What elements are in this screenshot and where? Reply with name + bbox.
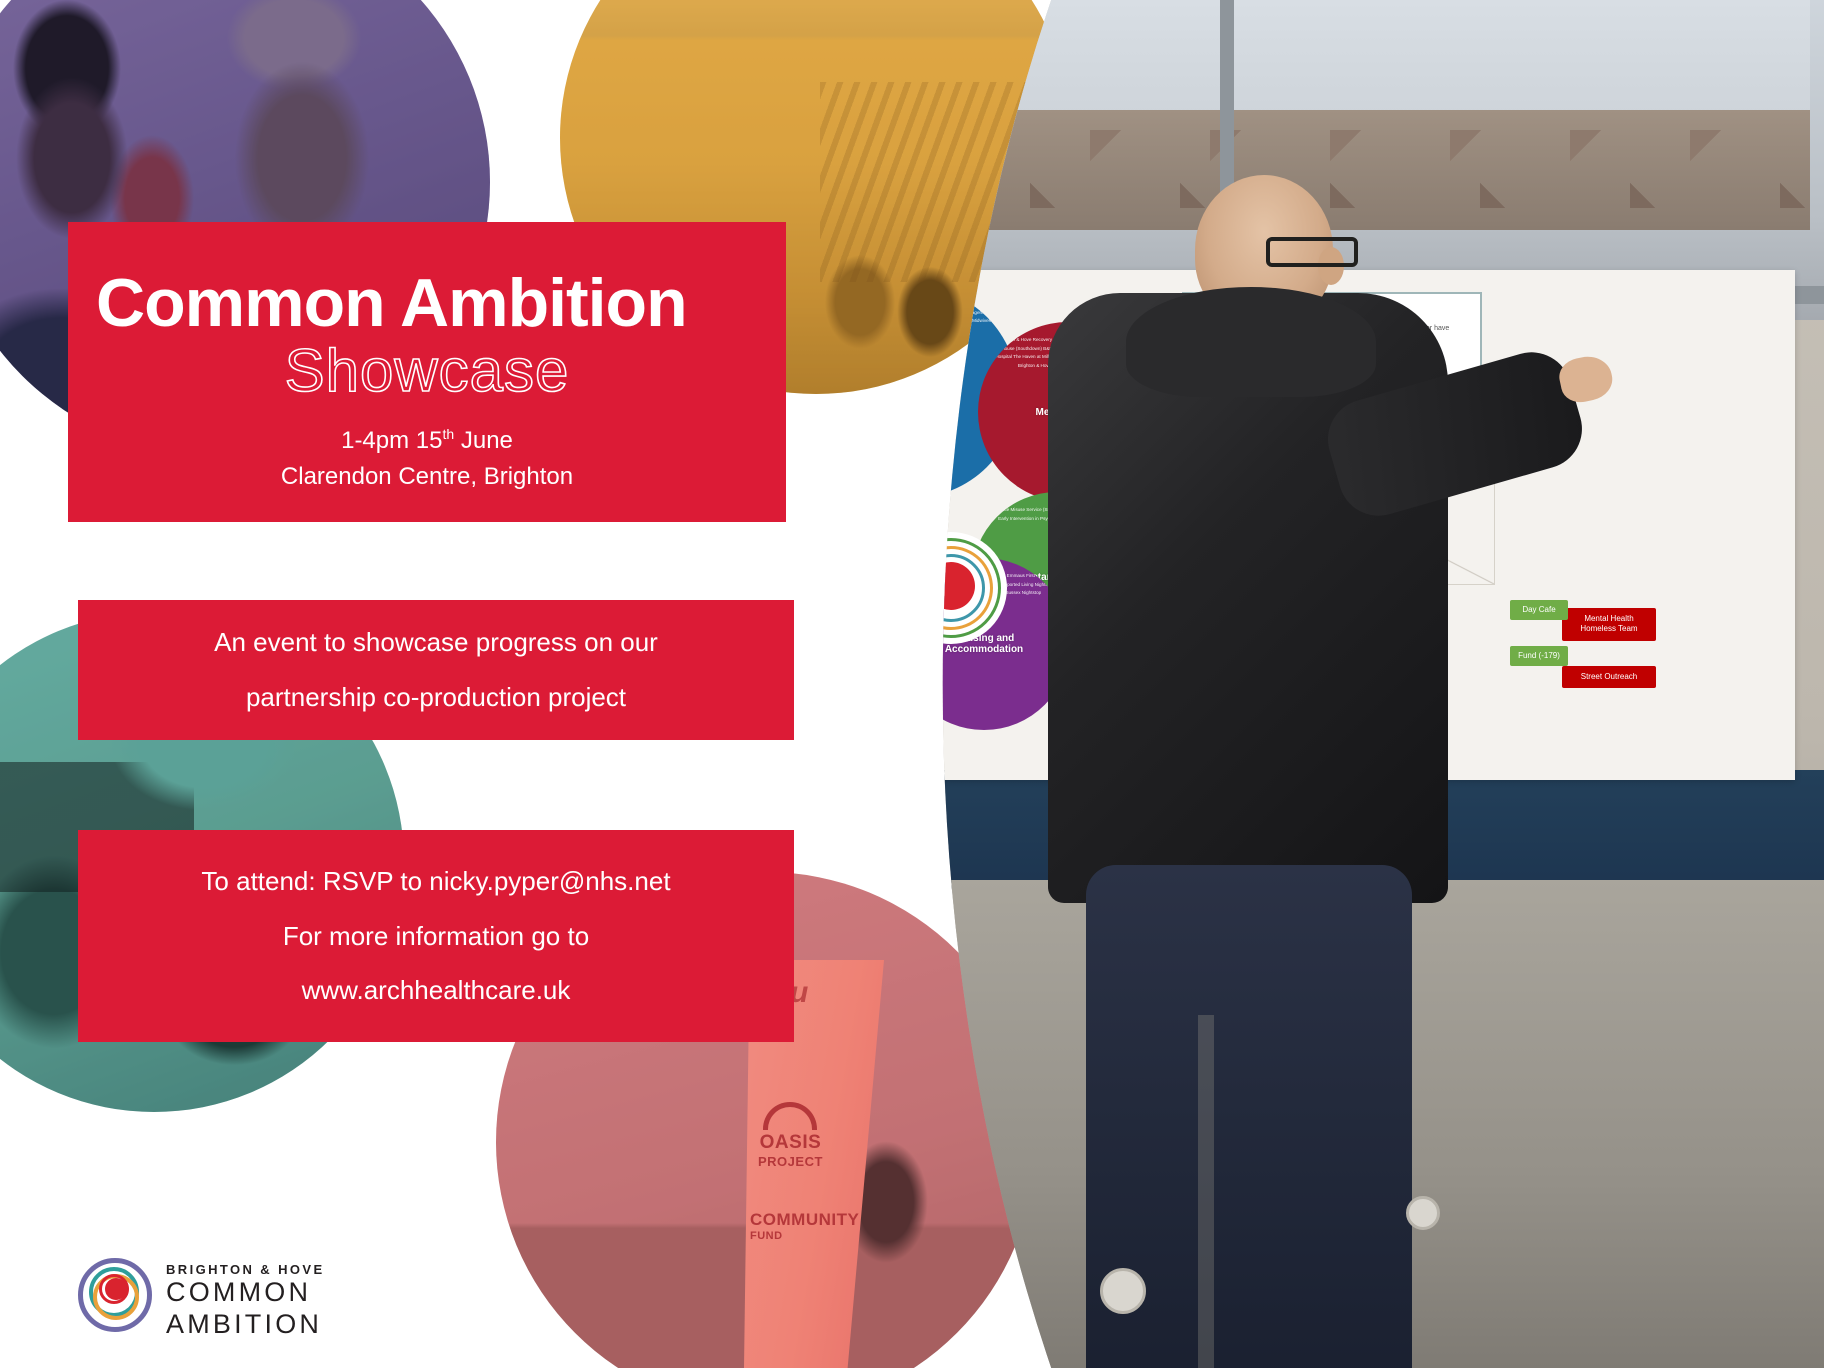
page-title: Common Ambition: [68, 222, 786, 342]
bubble-employment-label: Employment/ Benefits/Advice/Criminal Jus…: [802, 574, 912, 601]
bubble-sexual-health-items: Terrence Higgins Trust Clinic T Sussex S…: [776, 382, 888, 494]
oasis-project-logo: OASIS PROJECT: [758, 1102, 823, 1169]
bubble-employment: Money Advice Citizens Advice Job Centre …: [768, 498, 946, 676]
person-viewing-board: [1030, 175, 1460, 1368]
event-venue: Clarendon Centre, Brighton: [68, 459, 786, 495]
poster-canvas: Feedback on M Please use the post its pr…: [0, 0, 1824, 1368]
bubble-sexual-health: Terrence Higgins Trust Clinic T Sussex S…: [776, 382, 888, 494]
title-block: Common Ambition Showcase 1-4pm 15th June…: [68, 222, 786, 522]
arch-icon: [763, 1102, 817, 1130]
green-chip-1: Day Cafe: [1510, 600, 1568, 620]
rsvp-website-link[interactable]: www.archhealthcare.uk: [78, 963, 794, 1018]
rsvp-block: To attend: RSVP to nicky.pyper@nhs.net F…: [78, 830, 794, 1042]
logo-word-1: COMMON: [166, 1277, 325, 1309]
logo-mark-icon: [78, 1258, 152, 1332]
green-chip-2: Fund (-179): [1510, 646, 1568, 666]
blurb-block: An event to showcase progress on our par…: [78, 600, 794, 740]
rsvp-email-line[interactable]: To attend: RSVP to nicky.pyper@nhs.net: [78, 854, 794, 909]
blurb-line-2: partnership co-production project: [78, 670, 794, 725]
community-fund-logo: COMMUNITY FUND: [750, 1210, 859, 1242]
logo-word-2: AMBITION: [166, 1309, 325, 1341]
logo-wordmark: BRIGHTON & HOVE COMMON AMBITION: [166, 1262, 325, 1341]
red-chip-1: Mental Health Homeless Team: [1562, 608, 1656, 641]
rsvp-info-line: For more information go to: [78, 909, 794, 964]
event-time: 1-4pm 15th June: [68, 423, 786, 459]
event-details: 1-4pm 15th June Clarendon Centre, Bright…: [68, 423, 786, 495]
person-hood: [1126, 287, 1376, 397]
date-ordinal: th: [442, 426, 454, 442]
fund-line-2: FUND: [750, 1230, 859, 1242]
glasses-icon: [1266, 237, 1358, 267]
trolley-wheel: [1100, 1268, 1146, 1314]
trolley-wheel: [1406, 1196, 1440, 1230]
oasis-line-1: OASIS: [758, 1132, 823, 1154]
logo-kicker: BRIGHTON & HOVE: [166, 1262, 325, 1277]
common-ambition-ring-motif: [895, 532, 1007, 644]
bubble-employment-items: Money Advice Citizens Advice Job Centre …: [768, 498, 946, 676]
common-ambition-logo: BRIGHTON & HOVE COMMON AMBITION: [78, 1258, 338, 1350]
page-subtitle: Showcase: [68, 336, 786, 405]
blurb-line-1: An event to showcase progress on our: [78, 615, 794, 670]
fund-line-1: COMMUNITY: [750, 1210, 859, 1230]
bubble-sexual-health-label: Sexual Health: [806, 434, 858, 443]
red-chip-2: Street Outreach: [1562, 666, 1656, 688]
person-leg-gap: [1198, 1015, 1214, 1368]
oasis-line-2: PROJECT: [758, 1154, 823, 1169]
